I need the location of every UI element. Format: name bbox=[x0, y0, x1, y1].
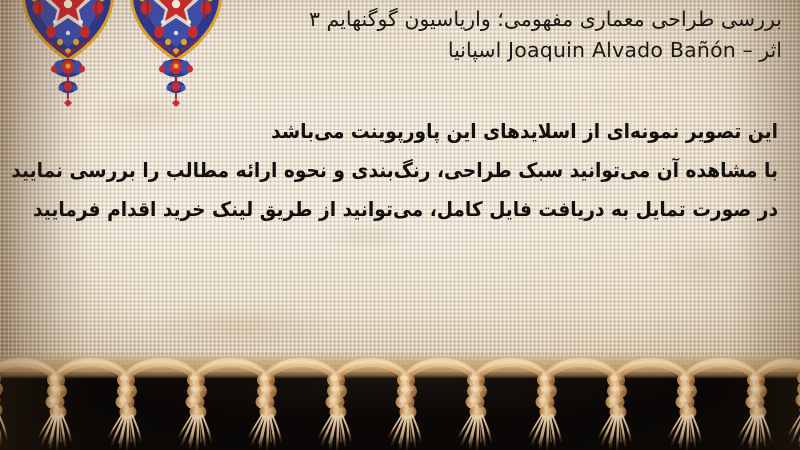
body-line-2: با مشاهده آن می‌توانید سبک طراحی، رنگ‌بن… bbox=[127, 151, 778, 190]
pendant-right bbox=[159, 59, 193, 107]
black-band bbox=[0, 372, 800, 450]
title-line-2: اثر – Joaquin Alvado Bañón اسپانیا bbox=[94, 35, 782, 66]
body-line-3: در صورت تمایل به دریافت فایل کامل، می‌تو… bbox=[127, 190, 778, 229]
body-line-1: این تصویر نمونه‌ای از اسلایدهای این پاور… bbox=[127, 112, 778, 151]
title-line-1: بررسی طراحی معماری مفهومی؛ واریاسیون گوگ… bbox=[94, 4, 782, 35]
slide-canvas: بررسی طراحی معماری مفهومی؛ واریاسیون گوگ… bbox=[0, 0, 800, 450]
slide-body: این تصویر نمونه‌ای از اسلایدهای این پاور… bbox=[78, 112, 778, 229]
pendant-left bbox=[51, 59, 85, 107]
carpet-bottom-edge bbox=[0, 352, 800, 378]
slide-title: بررسی طراحی معماری مفهومی؛ واریاسیون گوگ… bbox=[94, 4, 782, 66]
